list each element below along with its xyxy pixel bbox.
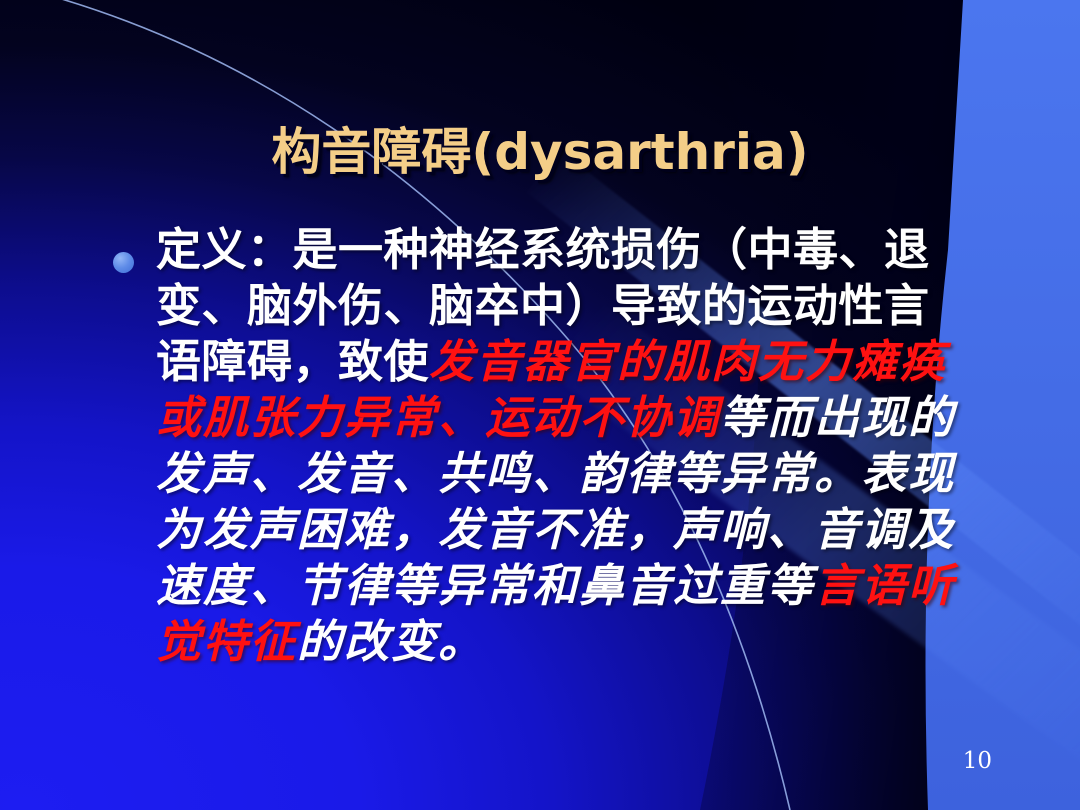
text-line: 语障碍，致使发音器官的肌肉无力瘫痪 (156, 334, 1008, 390)
text-line: 定义：是一种神经系统损伤（中毒、退 (156, 222, 1008, 278)
slide-title: 构音障碍(dysarthria) (0, 112, 1080, 184)
highlighted-text-segment: 或肌张力异常、运动不协调 (156, 391, 720, 444)
slide-title-latin: (dysarthria) (471, 123, 808, 181)
text-line: 觉特征的改变。 (156, 614, 1008, 670)
text-segment: 变、脑外伤、脑卒中）导致的运动性言 (156, 279, 930, 332)
text-line: 发声、发音、共鸣、韵律等异常。表现 (156, 446, 1008, 502)
text-line: 为发声困难，发音不准，声响、音调及 (156, 502, 1008, 558)
slide-canvas: 构音障碍(dysarthria) 定义：是一种神经系统损伤（中毒、退 变、脑外伤… (0, 0, 1080, 810)
highlighted-text-segment: 发音器官的肌肉无力瘫痪 (429, 335, 946, 388)
definition-paragraph: 定义：是一种神经系统损伤（中毒、退 变、脑外伤、脑卒中）导致的运动性言 语障碍，… (156, 222, 1008, 670)
slide-title-chinese: 构音障碍 (271, 123, 471, 181)
text-segment: 发声、发音、共鸣、韵律等异常。表现 (156, 447, 955, 500)
body-content: 定义：是一种神经系统损伤（中毒、退 变、脑外伤、脑卒中）导致的运动性言 语障碍，… (108, 222, 1008, 670)
text-line: 或肌张力异常、运动不协调等而出现的 (156, 390, 1008, 446)
text-segment: 为发声困难，发音不准，声响、音调及 (156, 503, 955, 556)
highlighted-text-segment: 觉特征 (156, 615, 297, 668)
text-segment: 语障碍，致使 (156, 335, 429, 388)
text-segment: 速度、节律等异常和鼻音过重等 (156, 559, 814, 612)
text-line: 变、脑外伤、脑卒中）导致的运动性言 (156, 278, 1008, 334)
highlighted-text-segment: 言语听 (814, 559, 955, 612)
bullet-point-icon (113, 252, 134, 273)
page-number: 10 (963, 748, 992, 774)
text-segment: 等而出现的 (720, 391, 955, 444)
definition-label: 定义： (156, 223, 293, 276)
text-segment: 是一种神经系统损伤（中毒、退 (293, 223, 930, 276)
text-line: 速度、节律等异常和鼻音过重等言语听 (156, 558, 1008, 614)
text-segment: 的改变。 (297, 615, 485, 668)
